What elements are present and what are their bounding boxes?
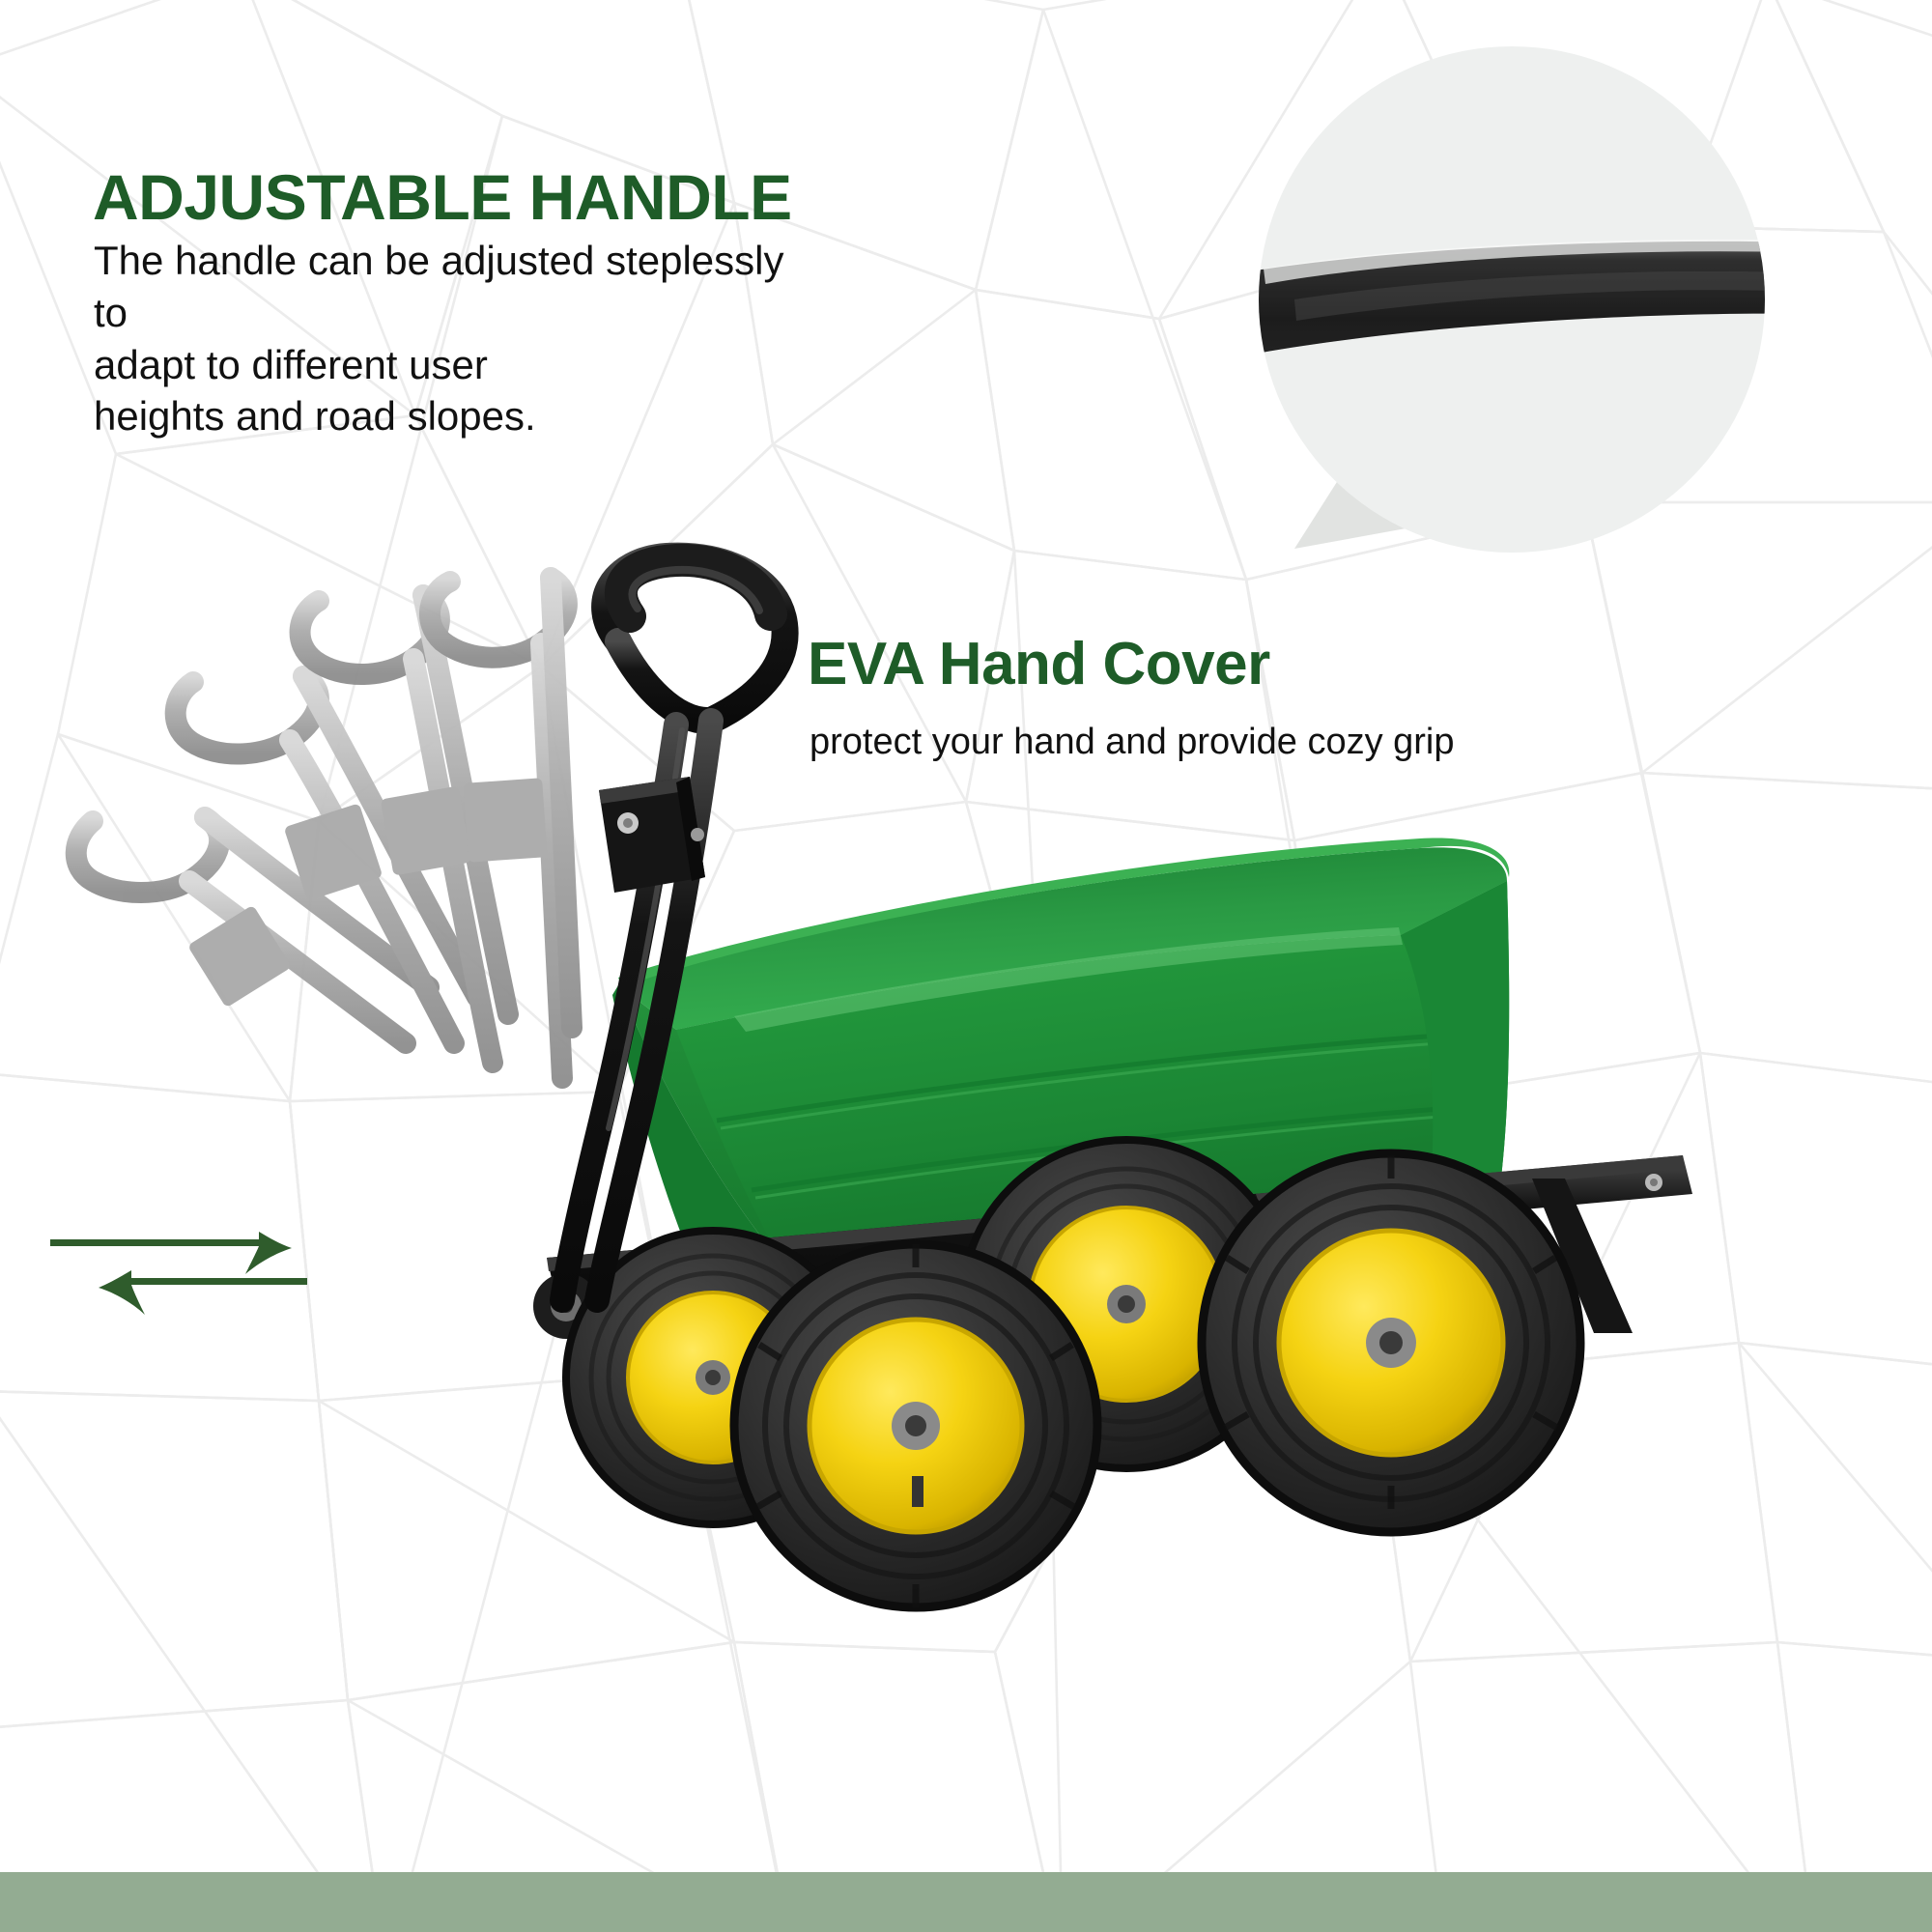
- adjustable-desc-line-1: The handle can be adjusted steplessly to: [94, 235, 828, 339]
- ghost-handle-1: [76, 817, 429, 1043]
- adjustable-desc-line-3: heights and road slopes.: [94, 390, 828, 442]
- adjustable-handle-title: ADJUSTABLE HANDLE: [93, 164, 792, 231]
- garden-dump-cart-illustration: [0, 541, 1932, 1913]
- wheel-rear-near: [1202, 1153, 1580, 1532]
- adjustable-handle-description: The handle can be adjusted steplessly to…: [94, 235, 828, 442]
- infographic-canvas: ADJUSTABLE HANDLE The handle can be adju…: [0, 0, 1932, 1932]
- footer-band: [0, 1872, 1932, 1932]
- handle-lock-block: [599, 777, 705, 893]
- wheel-front-near: [734, 1244, 1097, 1607]
- magnifier-circle-icon: [753, 46, 1932, 626]
- adjustable-desc-line-2: adapt to different user: [94, 339, 828, 391]
- ghost-handle-group: [76, 578, 572, 1078]
